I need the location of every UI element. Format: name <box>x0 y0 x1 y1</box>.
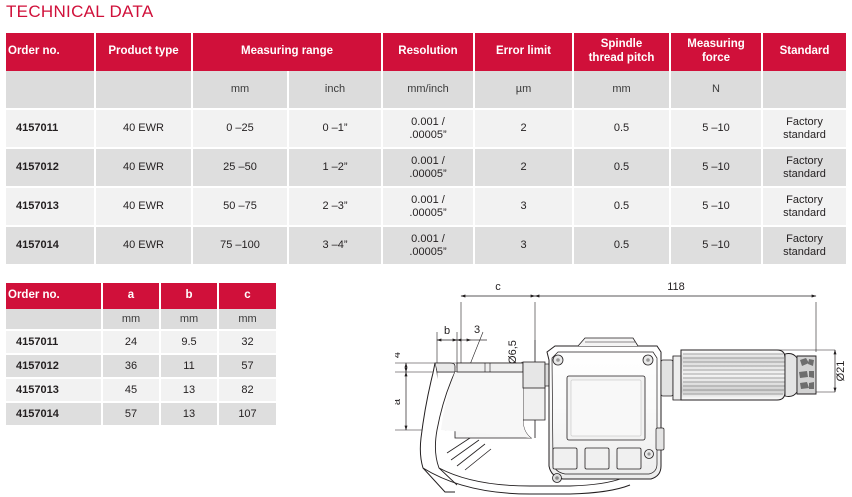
standard-line2: standard <box>783 168 826 180</box>
dims-header-row: Order no. a b c <box>6 283 276 309</box>
standard-line2: standard <box>783 207 826 219</box>
cell-spindle-thread-pitch: 0.5 <box>573 226 670 265</box>
dims-cell-order-no: 4157014 <box>6 402 102 426</box>
standard-line2: standard <box>783 246 826 258</box>
cell-order-no: 4157011 <box>6 109 95 148</box>
table-row: 4157014 57 13 107 <box>6 402 276 426</box>
cell-measuring-force: 5 –10 <box>670 148 762 187</box>
dim-label-total-length: 118 <box>667 281 685 293</box>
resolution-line2: .00005” <box>409 129 446 141</box>
cell-spindle-thread-pitch: 0.5 <box>573 148 670 187</box>
dims-cell-a: 24 <box>102 330 160 354</box>
dimensions-table: Order no. a b c mm mm mm 4157011 24 9.5 … <box>6 283 276 427</box>
dims-unit-order-no <box>6 309 102 330</box>
cell-order-no: 4157012 <box>6 148 95 187</box>
resolution-line2: .00005” <box>409 207 446 219</box>
unit-order-no <box>6 71 95 109</box>
dims-unit-a: mm <box>102 309 160 330</box>
table-row: 4157011 40 EWR 0 –25 0 –1” 0.001 / .0000… <box>6 109 846 148</box>
col-header-order-no: Order no. <box>6 33 95 71</box>
col-header-spindle-thread-pitch: Spindle thread pitch <box>573 33 670 71</box>
col-header-product-type: Product type <box>95 33 192 71</box>
table-row: 4157012 40 EWR 25 –50 1 –2” 0.001 / .000… <box>6 148 846 187</box>
cell-measuring-force: 5 –10 <box>670 109 762 148</box>
cell-product-type: 40 EWR <box>95 187 192 226</box>
dim-label-b: b <box>444 325 450 337</box>
dims-cell-c: 107 <box>218 402 276 426</box>
cell-error-limit: 3 <box>474 226 573 265</box>
cell-resolution: 0.001 / .00005” <box>382 226 474 265</box>
cell-spindle-thread-pitch: 0.5 <box>573 109 670 148</box>
cell-range-inch: 2 –3” <box>288 187 382 226</box>
unit-product-type <box>95 71 192 109</box>
dim-label-dia-spindle: Ø6,5 <box>507 340 519 364</box>
cell-error-limit: 2 <box>474 109 573 148</box>
standard-line1: Factory <box>786 155 823 167</box>
dims-cell-b: 13 <box>160 378 218 402</box>
technical-data-table: Order no. Product type Measuring range R… <box>6 33 846 266</box>
cell-product-type: 40 EWR <box>95 148 192 187</box>
dims-cell-c: 57 <box>218 354 276 378</box>
dims-cell-order-no: 4157012 <box>6 354 102 378</box>
dims-cell-order-no: 4157013 <box>6 378 102 402</box>
standard-line1: Factory <box>786 194 823 206</box>
dims-col-header-order-no: Order no. <box>6 283 102 309</box>
dims-cell-a: 45 <box>102 378 160 402</box>
unit-resolution: mm/inch <box>382 71 474 109</box>
cell-range-mm: 75 –100 <box>192 226 288 265</box>
resolution-line2: .00005” <box>409 168 446 180</box>
table-row: 4157013 40 EWR 50 –75 2 –3” 0.001 / .000… <box>6 187 846 226</box>
page-title: TECHNICAL DATA <box>6 2 153 22</box>
table-row: 4157011 24 9.5 32 <box>6 330 276 354</box>
col-header-resolution: Resolution <box>382 33 474 71</box>
dims-col-header-c: c <box>218 283 276 309</box>
dims-cell-b: 11 <box>160 354 218 378</box>
table-header-row: Order no. Product type Measuring range R… <box>6 33 846 71</box>
cell-resolution: 0.001 / .00005” <box>382 187 474 226</box>
cell-measuring-force: 5 –10 <box>670 226 762 265</box>
cell-product-type: 40 EWR <box>95 109 192 148</box>
spindle-thread-pitch-line2: thread pitch <box>589 52 655 64</box>
dims-unit-c: mm <box>218 309 276 330</box>
cell-range-inch: 0 –1” <box>288 109 382 148</box>
dims-cell-order-no: 4157011 <box>6 330 102 354</box>
dims-cell-a: 36 <box>102 354 160 378</box>
col-header-error-limit: Error limit <box>474 33 573 71</box>
table-row: 4157014 40 EWR 75 –100 3 –4” 0.001 / .00… <box>6 226 846 265</box>
dim-label-a: a <box>395 398 403 405</box>
cell-measuring-force: 5 –10 <box>670 187 762 226</box>
micrometer-drawing: c 118 b 3 Ø6,5 Ø21 4 a <box>395 280 852 497</box>
resolution-line1: 0.001 / <box>411 116 445 128</box>
unit-measuring-force: N <box>670 71 762 109</box>
dims-cell-c: 82 <box>218 378 276 402</box>
dims-col-header-a: a <box>102 283 160 309</box>
cell-standard: Factory standard <box>762 109 846 148</box>
standard-line2: standard <box>783 129 826 141</box>
cell-range-mm: 0 –25 <box>192 109 288 148</box>
spindle-thread-pitch-line1: Spindle <box>601 38 643 50</box>
table-row: 4157013 45 13 82 <box>6 378 276 402</box>
cell-range-mm: 25 –50 <box>192 148 288 187</box>
dims-cell-c: 32 <box>218 330 276 354</box>
cell-standard: Factory standard <box>762 148 846 187</box>
unit-range-mm: mm <box>192 71 288 109</box>
col-header-measuring-force: Measuring force <box>670 33 762 71</box>
dims-cell-b: 9.5 <box>160 330 218 354</box>
unit-error-limit: µm <box>474 71 573 109</box>
cell-resolution: 0.001 / .00005” <box>382 109 474 148</box>
resolution-line1: 0.001 / <box>411 233 445 245</box>
cell-range-inch: 1 –2” <box>288 148 382 187</box>
cell-error-limit: 3 <box>474 187 573 226</box>
table-row: 4157012 36 11 57 <box>6 354 276 378</box>
col-header-measuring-range: Measuring range <box>192 33 382 71</box>
dim-label-three: 3 <box>474 324 480 336</box>
dims-units-row: mm mm mm <box>6 309 276 330</box>
dim-label-four: 4 <box>395 352 403 358</box>
dim-label-dia-thimble: Ø21 <box>835 361 847 382</box>
cell-spindle-thread-pitch: 0.5 <box>573 187 670 226</box>
col-header-standard: Standard <box>762 33 846 71</box>
units-row: mm inch mm/inch µm mm N <box>6 71 846 109</box>
resolution-line2: .00005” <box>409 246 446 258</box>
cell-product-type: 40 EWR <box>95 226 192 265</box>
measuring-force-line2: force <box>702 52 730 64</box>
dims-unit-b: mm <box>160 309 218 330</box>
unit-spindle-thread-pitch: mm <box>573 71 670 109</box>
cell-order-no: 4157014 <box>6 226 95 265</box>
standard-line1: Factory <box>786 116 823 128</box>
cell-standard: Factory standard <box>762 226 846 265</box>
dim-label-c: c <box>495 281 501 293</box>
cell-order-no: 4157013 <box>6 187 95 226</box>
cell-range-inch: 3 –4” <box>288 226 382 265</box>
unit-standard <box>762 71 846 109</box>
dims-col-header-b: b <box>160 283 218 309</box>
unit-range-inch: inch <box>288 71 382 109</box>
measuring-force-line1: Measuring <box>687 38 745 50</box>
resolution-line1: 0.001 / <box>411 155 445 167</box>
dims-cell-a: 57 <box>102 402 160 426</box>
cell-standard: Factory standard <box>762 187 846 226</box>
cell-range-mm: 50 –75 <box>192 187 288 226</box>
resolution-line1: 0.001 / <box>411 194 445 206</box>
cell-error-limit: 2 <box>474 148 573 187</box>
standard-line1: Factory <box>786 233 823 245</box>
dims-cell-b: 13 <box>160 402 218 426</box>
cell-resolution: 0.001 / .00005” <box>382 148 474 187</box>
